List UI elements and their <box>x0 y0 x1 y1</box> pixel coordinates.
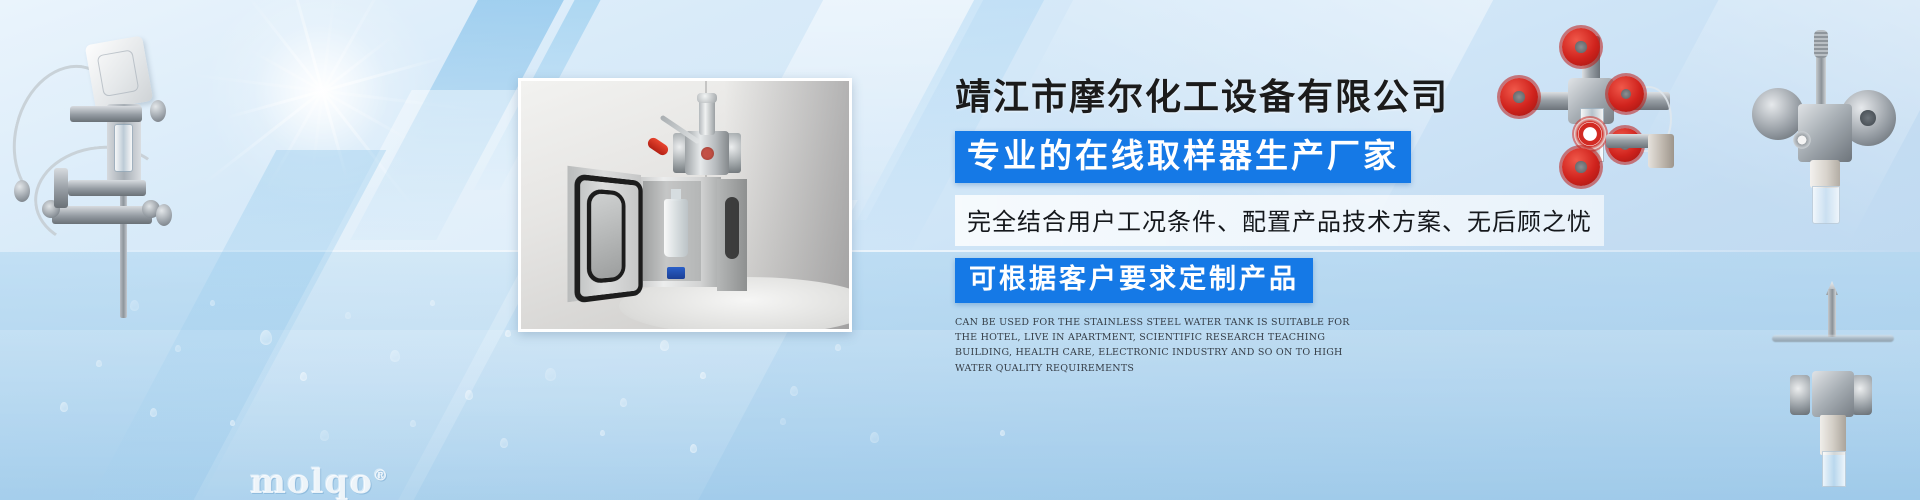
water-droplet <box>790 386 798 396</box>
sun-ray <box>246 0 323 92</box>
upper-valve-block <box>70 106 142 122</box>
lever-valve-emblem-icon <box>1792 130 1812 150</box>
sun-ray <box>225 90 323 120</box>
valve-emblem-icon <box>701 147 714 160</box>
sun-ray <box>322 34 395 92</box>
left-sampling-device-render <box>8 28 188 298</box>
sun-ray <box>322 56 445 93</box>
water-droplet <box>600 430 605 436</box>
relief-valve <box>54 168 68 208</box>
headline-text-block: 靖江市摩尔化工设备有限公司 专业的在线取样器生产厂家 完全结合用户工况条件、配置… <box>955 78 1595 376</box>
top-sampling-valve <box>671 97 743 183</box>
sun-ray <box>248 48 323 92</box>
bottom-valve-collar <box>1820 415 1846 455</box>
sun-ray <box>322 90 485 113</box>
water-droplet <box>175 345 181 352</box>
cross-valve-canister <box>1648 134 1674 168</box>
bottom-valve-flange-left <box>1790 375 1810 415</box>
bottom-valve-flange-right <box>1852 375 1872 415</box>
sun-ray <box>321 0 394 92</box>
sun-glow <box>196 0 446 216</box>
door-window <box>587 188 626 284</box>
cabinet-door <box>567 166 641 302</box>
water-droplet <box>260 330 272 345</box>
water-droplet <box>500 438 508 448</box>
tagline-secondary: 完全结合用户工况条件、配置产品技术方案、无后顾之忧 <box>955 195 1604 246</box>
sight-glass <box>114 124 133 172</box>
water-droplet <box>345 312 351 319</box>
sun-ray <box>279 0 324 91</box>
bottom-valve-stem <box>1828 289 1836 337</box>
product-photo-content <box>521 81 849 329</box>
tagline-custom-badge: 可根据客户要求定制产品 <box>955 258 1313 302</box>
sun-ray <box>321 90 414 208</box>
cabinet-side-panel <box>717 179 747 291</box>
company-name: 靖江市摩尔化工设备有限公司 <box>955 78 1595 118</box>
flange-left <box>14 180 30 202</box>
valve-knob <box>697 93 717 103</box>
controller-housing <box>85 35 154 110</box>
water-droplet <box>210 300 215 306</box>
blue-cap <box>667 267 685 279</box>
sun-ray <box>264 90 324 193</box>
bottom-valve-body <box>1812 371 1854 417</box>
water-droplet <box>130 300 139 311</box>
water-droplet <box>150 408 157 417</box>
water-droplet <box>545 368 556 381</box>
water-droplet <box>700 372 706 379</box>
brand-watermark: molqo® <box>250 462 389 500</box>
water-droplet <box>410 420 416 427</box>
english-description: CAN BE USED FOR THE STAINLESS STEEL WATE… <box>955 315 1375 377</box>
handwheel-right-upper <box>1608 76 1644 112</box>
water-droplet <box>390 350 400 362</box>
bottom-valve-render <box>1760 285 1910 485</box>
watermark-text: molqo <box>250 462 373 500</box>
bottom-valve-glass <box>1822 451 1846 487</box>
sun-ray <box>185 73 322 93</box>
water-droplet <box>96 360 102 367</box>
lever-valve-grip <box>1814 30 1828 58</box>
sample-bottle <box>664 199 688 257</box>
valve-stem <box>699 99 715 135</box>
water-droplet <box>690 444 697 453</box>
lower-valve-block <box>52 206 152 224</box>
sun-ray <box>321 0 337 91</box>
sun-ray <box>322 90 420 147</box>
sun-ray <box>321 91 349 183</box>
water-droplet <box>505 330 511 337</box>
water-droplet <box>780 418 786 425</box>
promotional-banner: 靖江市摩尔化工设备有限公司 专业的在线取样器生产厂家 完全结合用户工况条件、配置… <box>0 0 1920 500</box>
water-droplet <box>320 430 329 441</box>
lever-valve-glass-cup <box>1812 186 1840 224</box>
handwheel-top <box>1562 28 1600 66</box>
lever-valve-cap <box>1810 160 1840 188</box>
water-droplet <box>835 344 841 351</box>
water-droplet <box>660 340 669 351</box>
water-droplet <box>620 398 627 407</box>
sun-ray <box>200 90 323 187</box>
sun-ray <box>311 91 324 171</box>
water-droplet <box>1000 430 1005 436</box>
valve-red-grip <box>646 136 670 157</box>
flange-top-right <box>150 100 166 122</box>
water-droplet <box>430 300 435 306</box>
lever-valve-render <box>1736 26 1916 246</box>
water-droplet <box>870 432 879 443</box>
tagline-primary-badge: 专业的在线取样器生产厂家 <box>955 131 1411 184</box>
water-droplet <box>60 402 68 412</box>
product-photo <box>518 78 852 332</box>
registered-mark-icon: ® <box>373 467 389 485</box>
bottom-valve-crossbar <box>1772 335 1894 342</box>
flange-right <box>156 204 172 226</box>
water-droplet <box>300 372 307 381</box>
mid-valve-block <box>68 180 146 196</box>
water-droplet <box>465 390 473 400</box>
water-droplet <box>230 420 235 426</box>
